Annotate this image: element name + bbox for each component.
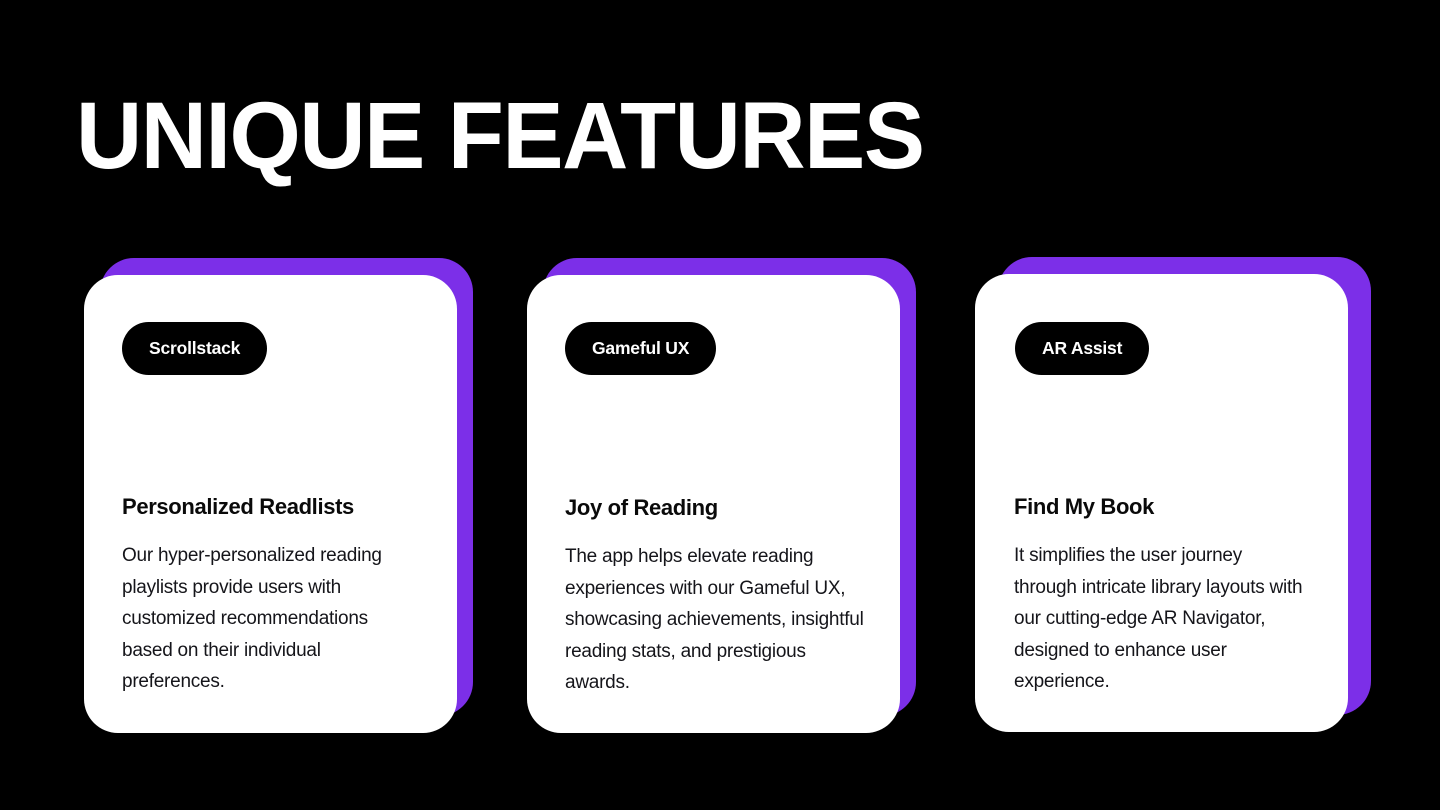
card-heading: Find My Book (1014, 493, 1314, 521)
card-surface[interactable]: Scrollstack Personalized Readlists Our h… (84, 275, 457, 733)
feature-card[interactable]: Scrollstack Personalized Readlists Our h… (84, 275, 457, 733)
card-text-block: Personalized Readlists Our hyper-persona… (122, 493, 422, 698)
card-chip-badge[interactable]: Scrollstack (122, 322, 267, 375)
card-chip-badge[interactable]: Gameful UX (565, 322, 716, 375)
feature-card[interactable]: Gameful UX Joy of Reading The app helps … (527, 275, 900, 733)
card-heading: Personalized Readlists (122, 493, 422, 521)
card-text-block: Joy of Reading The app helps elevate rea… (565, 494, 865, 699)
card-description: The app helps elevate reading experience… (565, 541, 865, 699)
card-chip-badge[interactable]: AR Assist (1015, 322, 1149, 375)
feature-card[interactable]: AR Assist Find My Book It simplifies the… (975, 274, 1348, 732)
card-text-block: Find My Book It simplifies the user jour… (1014, 493, 1314, 698)
card-surface[interactable]: AR Assist Find My Book It simplifies the… (975, 274, 1348, 732)
card-description: Our hyper-personalized reading playlists… (122, 540, 422, 698)
feature-cards-row: Scrollstack Personalized Readlists Our h… (0, 0, 1440, 810)
card-heading: Joy of Reading (565, 494, 865, 522)
card-surface[interactable]: Gameful UX Joy of Reading The app helps … (527, 275, 900, 733)
card-description: It simplifies the user journey through i… (1014, 540, 1306, 698)
